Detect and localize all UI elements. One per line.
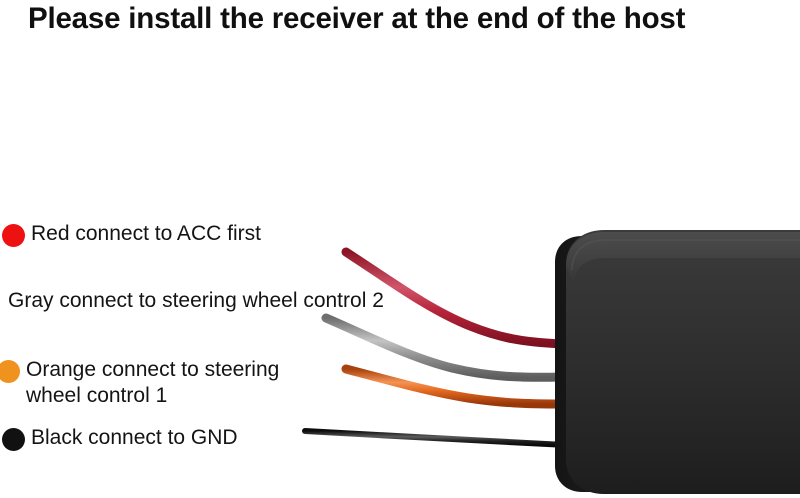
legend-label-orange: Orange connect to steering wheel control…: [26, 357, 279, 409]
wire-bundle: [305, 252, 566, 445]
instruction-graphic: Please install the receiver at the end o…: [0, 0, 800, 498]
legend-label-black: Black connect to GND: [31, 425, 238, 451]
bullet-black-icon: [2, 428, 25, 451]
legend-label-gray: Gray connect to steering wheel control 2: [8, 288, 384, 314]
legend-item-red: Red connect to ACC first: [0, 221, 340, 253]
wire-black: [305, 431, 566, 445]
legend-item-orange: Orange connect to steering wheel control…: [0, 357, 330, 415]
legend-item-gray: Gray connect to steering wheel control 2: [0, 288, 390, 320]
legend-item-black: Black connect to GND: [0, 425, 340, 457]
legend-label-red: Red connect to ACC first: [31, 221, 261, 247]
device-body: [566, 230, 800, 494]
bullet-orange-icon: [0, 360, 20, 383]
bullet-red-icon: [2, 224, 25, 247]
